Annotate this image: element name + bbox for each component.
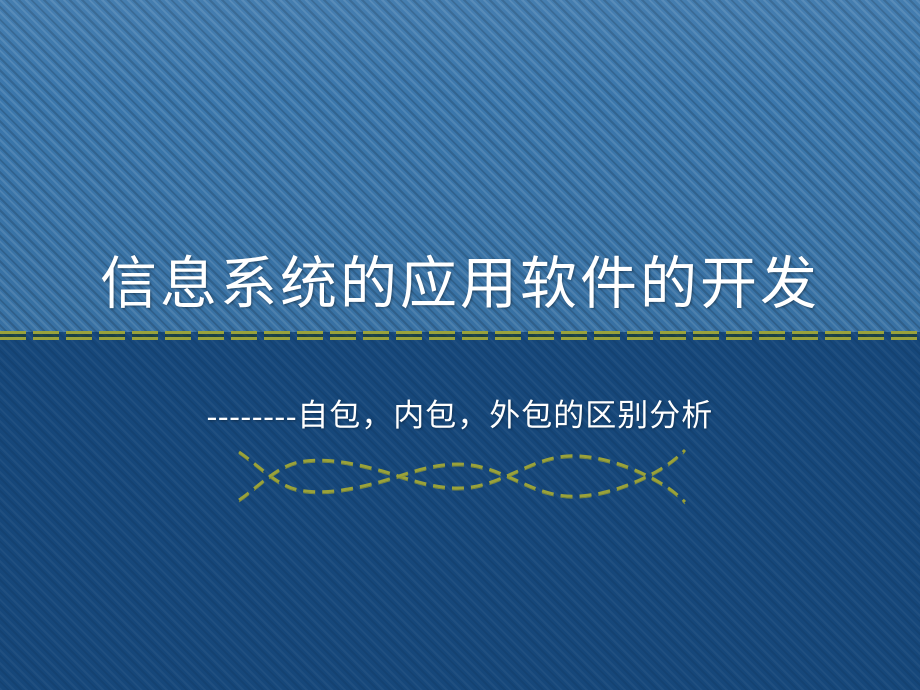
slide-subtitle: --------自包，内包，外包的区别分析 xyxy=(0,396,920,436)
title-slide: 信息系统的应用软件的开发 --------自包，内包，外包的区别分析 xyxy=(0,0,920,690)
crossing-dashed-ribbon-ornament xyxy=(237,444,687,506)
dashed-double-rule xyxy=(0,331,920,342)
divider-line-lower xyxy=(0,337,920,340)
slide-title: 信息系统的应用软件的开发 xyxy=(0,252,920,318)
lower-striped-band xyxy=(0,332,920,690)
